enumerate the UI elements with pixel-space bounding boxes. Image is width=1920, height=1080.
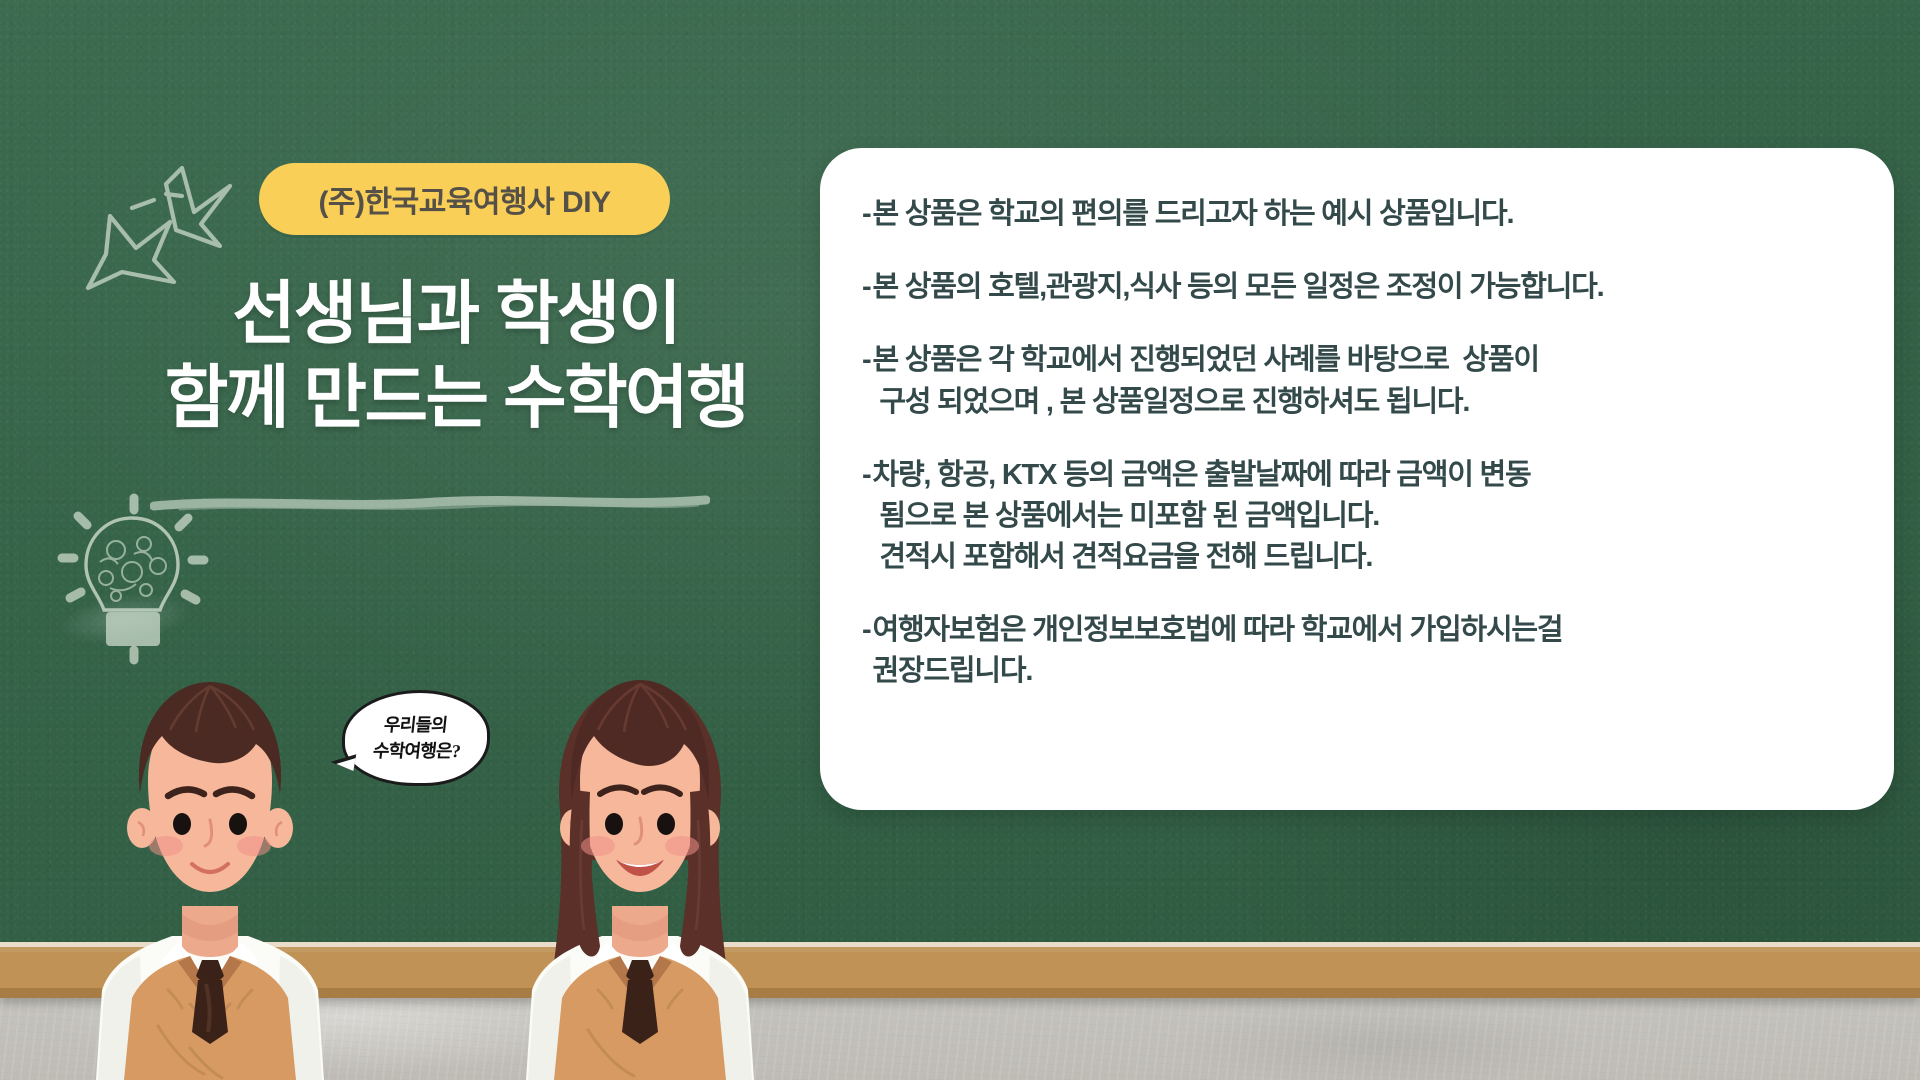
note-line: 본 상품의 호텔,관광지,식사 등의 모든 일정은 조정이 가능합니다. [872, 267, 1854, 308]
speech-bubble: 우리들의 수학여행은? [342, 690, 490, 786]
note-line: 견적시 포함해서 견적요금을 전해 드립니다. [872, 537, 1854, 578]
note-dash: - [862, 455, 870, 496]
speech-bubble-line-1: 우리들의 [383, 712, 449, 738]
note-line: 됨으로 본 상품에서는 미포함 된 금액입니다. [872, 496, 1854, 537]
note-dash: - [862, 610, 870, 651]
page-title: 선생님과 학생이 함께 만드는 수학여행 [96, 272, 816, 440]
female-student-illustration [470, 660, 810, 1080]
note-item: - 본 상품은 각 학교에서 진행되었던 사례를 바탕으로 상품이 구성 되었으… [862, 340, 1854, 422]
male-student-illustration [40, 660, 380, 1080]
info-card: - 본 상품은 학교의 편의를 드리고자 하는 예시 상품입니다. - 본 상품… [820, 148, 1894, 810]
company-badge-label: (주)한국교육여행사 DIY [318, 177, 610, 221]
note-line: 본 상품은 각 학교에서 진행되었던 사례를 바탕으로 상품이 [872, 340, 1854, 381]
note-line: 차량, 항공, KTX 등의 금액은 출발날짜에 따라 금액이 변동 [872, 455, 1854, 496]
speech-bubble-line-2: 수학여행은? [371, 738, 461, 764]
note-line: 구성 되었으며 , 본 상품일정으로 진행하셔도 됩니다. [872, 382, 1854, 423]
note-item: - 차량, 항공, KTX 등의 금액은 출발날짜에 따라 금액이 변동 됨으로… [862, 455, 1854, 579]
note-body: 본 상품의 호텔,관광지,식사 등의 모든 일정은 조정이 가능합니다. [872, 267, 1854, 308]
note-line: 본 상품은 학교의 편의를 드리고자 하는 예시 상품입니다. [872, 194, 1854, 235]
note-dash: - [862, 194, 870, 235]
company-badge: (주)한국교육여행사 DIY [259, 163, 670, 235]
note-line: 여행자보험은 개인정보보호법에 따라 학교에서 가입하시는걸 [872, 610, 1854, 651]
page-title-line-2: 함께 만드는 수학여행 [96, 356, 816, 440]
note-item: - 여행자보험은 개인정보보호법에 따라 학교에서 가입하시는걸 권장드립니다. [862, 610, 1854, 692]
note-body: 차량, 항공, KTX 등의 금액은 출발날짜에 따라 금액이 변동 됨으로 본… [872, 455, 1854, 579]
note-body: 본 상품은 각 학교에서 진행되었던 사례를 바탕으로 상품이 구성 되었으며 … [872, 340, 1854, 422]
note-dash: - [862, 267, 870, 308]
note-body: 여행자보험은 개인정보보호법에 따라 학교에서 가입하시는걸 권장드립니다. [872, 610, 1854, 692]
note-item: - 본 상품은 학교의 편의를 드리고자 하는 예시 상품입니다. [862, 194, 1854, 235]
note-line: 권장드립니다. [872, 651, 1854, 692]
page-title-line-1: 선생님과 학생이 [96, 272, 816, 356]
note-dash: - [862, 340, 870, 381]
poster-canvas: (주)한국교육여행사 DIY 선생님과 학생이 함께 만드는 수학여행 [0, 0, 1920, 1080]
note-item: - 본 상품의 호텔,관광지,식사 등의 모든 일정은 조정이 가능합니다. [862, 267, 1854, 308]
note-body: 본 상품은 학교의 편의를 드리고자 하는 예시 상품입니다. [872, 194, 1854, 235]
